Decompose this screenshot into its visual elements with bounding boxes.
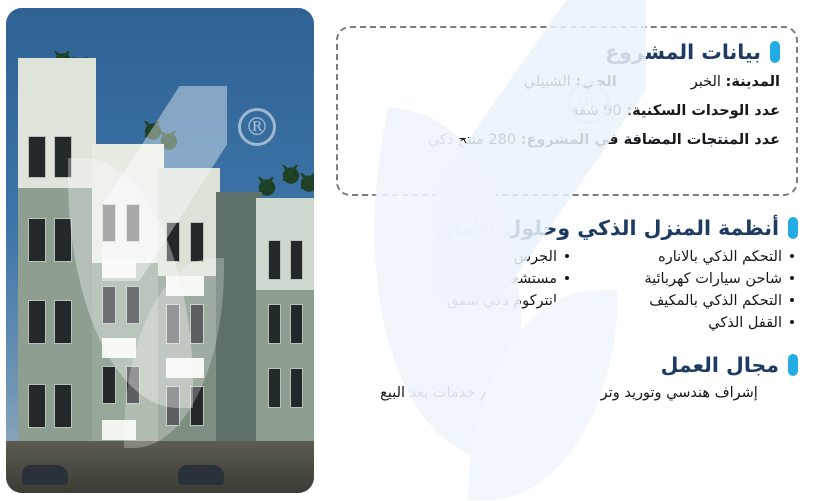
work-scope-heading-label: مجال العمل	[661, 353, 779, 377]
project-city-value: الخبر	[691, 74, 721, 90]
smart-home-list-left: الجرس الذكي مستشعرات الحركة انتركوم ذكي …	[409, 249, 569, 331]
window	[28, 136, 46, 178]
project-district-label: الحي:	[575, 74, 616, 90]
project-units-label: عدد الوحدات السكنية:	[626, 103, 780, 119]
project-data-card: بيانات المشروع المدينة: الخبر الحي: الشب…	[336, 26, 798, 196]
bullet-icon	[790, 276, 794, 280]
project-data-rows: المدينة: الخبر الحي: الشبيلي عدد الوحدات…	[354, 74, 780, 148]
project-data-row: عدد المنتجات المضافة في المشروع: 280 منت…	[354, 132, 780, 148]
window	[28, 218, 46, 262]
heading-marker-icon	[788, 217, 798, 239]
window	[268, 240, 281, 280]
parked-car	[178, 465, 224, 485]
list-item: الجرس الذكي	[409, 249, 569, 265]
bullet-icon	[790, 254, 794, 258]
list-item-label: القفل الذكي	[708, 315, 782, 331]
work-scope-text: إشراف هندسي وتوريد وتركيب وتشغيل وتقديم …	[336, 385, 798, 401]
heading-marker-icon	[770, 41, 780, 63]
list-item-label: الجرس الذكي	[474, 249, 557, 265]
project-data-heading-label: بيانات المشروع	[605, 40, 761, 64]
bullet-icon	[565, 254, 569, 258]
list-item: القفل الذكي	[599, 315, 794, 331]
project-info-page: ® ® بيانات المشروع المدينة: الخبر	[0, 0, 820, 501]
work-scope-section: مجال العمل إشراف هندسي وتوريد وتركيب وتش…	[336, 353, 798, 401]
bullet-icon	[790, 320, 794, 324]
smart-home-heading: أنظمة المنزل الذكي وحلول الأمان	[336, 216, 798, 240]
window	[28, 300, 46, 344]
window	[268, 368, 281, 408]
list-item: مستشعرات الحركة	[409, 271, 569, 287]
project-products-value: 280 منتج ذكي	[428, 132, 516, 148]
project-data-heading: بيانات المشروع	[354, 40, 780, 64]
list-item-label: التحكم الذكي بالمكيف	[649, 293, 782, 309]
project-district-field: الحي: الشبيلي	[524, 74, 617, 90]
project-products-label: عدد المنتجات المضافة في المشروع:	[521, 132, 780, 148]
list-item: انتركوم ذكي شقق	[409, 293, 569, 309]
project-units-value: 90 شقة	[571, 103, 621, 119]
project-city-label: المدينة:	[726, 74, 780, 90]
project-district-value: الشبيلي	[524, 74, 571, 90]
project-data-row: عدد الوحدات السكنية: 90 شقة	[354, 103, 780, 119]
window	[190, 222, 204, 262]
list-item: التحكم الذكي بالمكيف	[599, 293, 794, 309]
project-units-field: عدد الوحدات السكنية: 90 شقة	[571, 103, 780, 119]
window	[290, 368, 303, 408]
smart-home-section: أنظمة المنزل الذكي وحلول الأمان التحكم ا…	[336, 216, 798, 331]
content-column: ® بيانات المشروع المدينة: الخبر الحي: ال…	[318, 0, 820, 501]
list-item-label: مستشعرات الحركة	[441, 271, 557, 287]
window	[290, 304, 303, 344]
work-scope-heading: مجال العمل	[336, 353, 798, 377]
window	[54, 384, 72, 428]
registered-trademark-icon: ®	[238, 108, 276, 146]
window	[268, 304, 281, 344]
project-data-row: المدينة: الخبر الحي: الشبيلي	[354, 74, 780, 90]
window	[28, 384, 46, 428]
list-item: شاحن سيارات كهربائية	[599, 271, 794, 287]
window	[102, 366, 116, 404]
project-city-field: المدينة: الخبر	[691, 74, 780, 90]
smart-home-list-right: التحكم الذكي بالاناره شاحن سيارات كهربائ…	[599, 249, 794, 331]
list-item-label: انتركوم ذكي شقق	[447, 293, 557, 309]
bullet-icon	[565, 276, 569, 280]
parked-car	[22, 465, 68, 485]
list-item-label: التحكم الذكي بالاناره	[658, 249, 782, 265]
smart-home-heading-label: أنظمة المنزل الذكي وحلول الأمان	[436, 216, 779, 240]
heading-marker-icon	[788, 354, 798, 376]
list-item-label: شاحن سيارات كهربائية	[644, 271, 782, 287]
project-products-field: عدد المنتجات المضافة في المشروع: 280 منت…	[428, 132, 780, 148]
project-photo-container: ®	[0, 0, 318, 501]
bullet-icon	[565, 298, 569, 302]
smart-home-feature-lists: التحكم الذكي بالاناره شاحن سيارات كهربائ…	[336, 249, 798, 331]
window	[54, 300, 72, 344]
palm-tree-icon	[296, 168, 314, 194]
project-photo: ®	[6, 8, 314, 493]
window	[290, 240, 303, 280]
bullet-icon	[790, 298, 794, 302]
list-item: التحكم الذكي بالاناره	[599, 249, 794, 265]
